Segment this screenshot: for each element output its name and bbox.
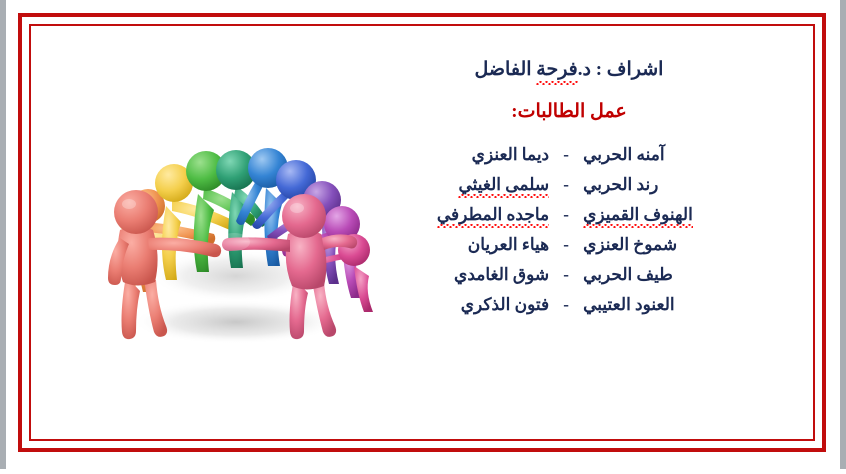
supervisor-prefix: اشراف : د. [578, 59, 664, 80]
student-name-text: رند الحربي [583, 175, 658, 194]
table-row: آمنه الحربي - ديما العنزي [437, 140, 701, 170]
document-page: اشراف : د.فرحة الفاضل عمل الطالبات: آمنه… [0, 0, 846, 474]
student-name-text-misspelled: ماجده المطرفي [437, 205, 549, 225]
student-name-right-2: رند الحربي [583, 170, 701, 200]
page-content: اشراف : د.فرحة الفاضل عمل الطالبات: آمنه… [31, 26, 813, 439]
student-name-text-misspelled: الهنوف القميزي [583, 205, 693, 225]
table-row: رند الحربي - سلمى الغيثي [437, 170, 701, 200]
table-row: العنود العتيبي - فتون الذكري [437, 290, 701, 320]
page-edge-right [840, 0, 846, 474]
row-separator-5: - [549, 260, 583, 290]
table-row: شموخ العنزي - هياء العريان [437, 230, 701, 260]
student-name-right-5: طيف الحربي [583, 260, 701, 290]
student-name-text: العنود العتيبي [583, 295, 675, 314]
student-name-left-6: فتون الذكري [437, 290, 549, 320]
row-separator-1: - [549, 140, 583, 170]
student-name-text: شوق الغامدي [454, 265, 549, 284]
students-work-heading: عمل الطالبات: [329, 100, 809, 124]
student-name-right-3: الهنوف القميزي [583, 200, 701, 230]
supervisor-name-misspelled: فرحة [536, 58, 578, 82]
student-name-right-1: آمنه الحربي [583, 140, 701, 170]
table-row: طيف الحربي - شوق الغامدي [437, 260, 701, 290]
student-name-right-6: العنود العتيبي [583, 290, 701, 320]
student-name-left-2: سلمى الغيثي [437, 170, 549, 200]
text-block: اشراف : د.فرحة الفاضل عمل الطالبات: آمنه… [329, 58, 809, 320]
page-edge-bottom [0, 469, 846, 474]
row-separator-3: - [549, 200, 583, 230]
student-name-text: فتون الذكري [461, 295, 549, 314]
student-name-left-4: هياء العريان [437, 230, 549, 260]
page-edge-left [0, 0, 6, 474]
supervisor-heading: اشراف : د.فرحة الفاضل [329, 58, 809, 82]
supervisor-suffix: الفاضل [475, 59, 537, 80]
row-separator-4: - [549, 230, 583, 260]
student-name-left-3: ماجده المطرفي [437, 200, 549, 230]
student-name-text-misspelled: سلمى الغيثي [458, 175, 549, 195]
row-separator-2: - [549, 170, 583, 200]
row-separator-6: - [549, 290, 583, 320]
student-names-body: آمنه الحربي - ديما العنزي رند الحربي - [437, 140, 701, 320]
student-name-text: طيف الحربي [583, 265, 673, 284]
student-name-text: شموخ العنزي [583, 235, 677, 254]
student-name-right-4: شموخ العنزي [583, 230, 701, 260]
table-row: الهنوف القميزي - ماجده المطرفي [437, 200, 701, 230]
student-names-table: آمنه الحربي - ديما العنزي رند الحربي - [437, 140, 701, 320]
student-name-left-1: ديما العنزي [437, 140, 549, 170]
student-name-text: آمنه الحربي [583, 145, 664, 164]
student-name-text: ديما العنزي [472, 145, 549, 164]
student-name-left-5: شوق الغامدي [437, 260, 549, 290]
student-name-text: هياء العريان [468, 235, 549, 254]
